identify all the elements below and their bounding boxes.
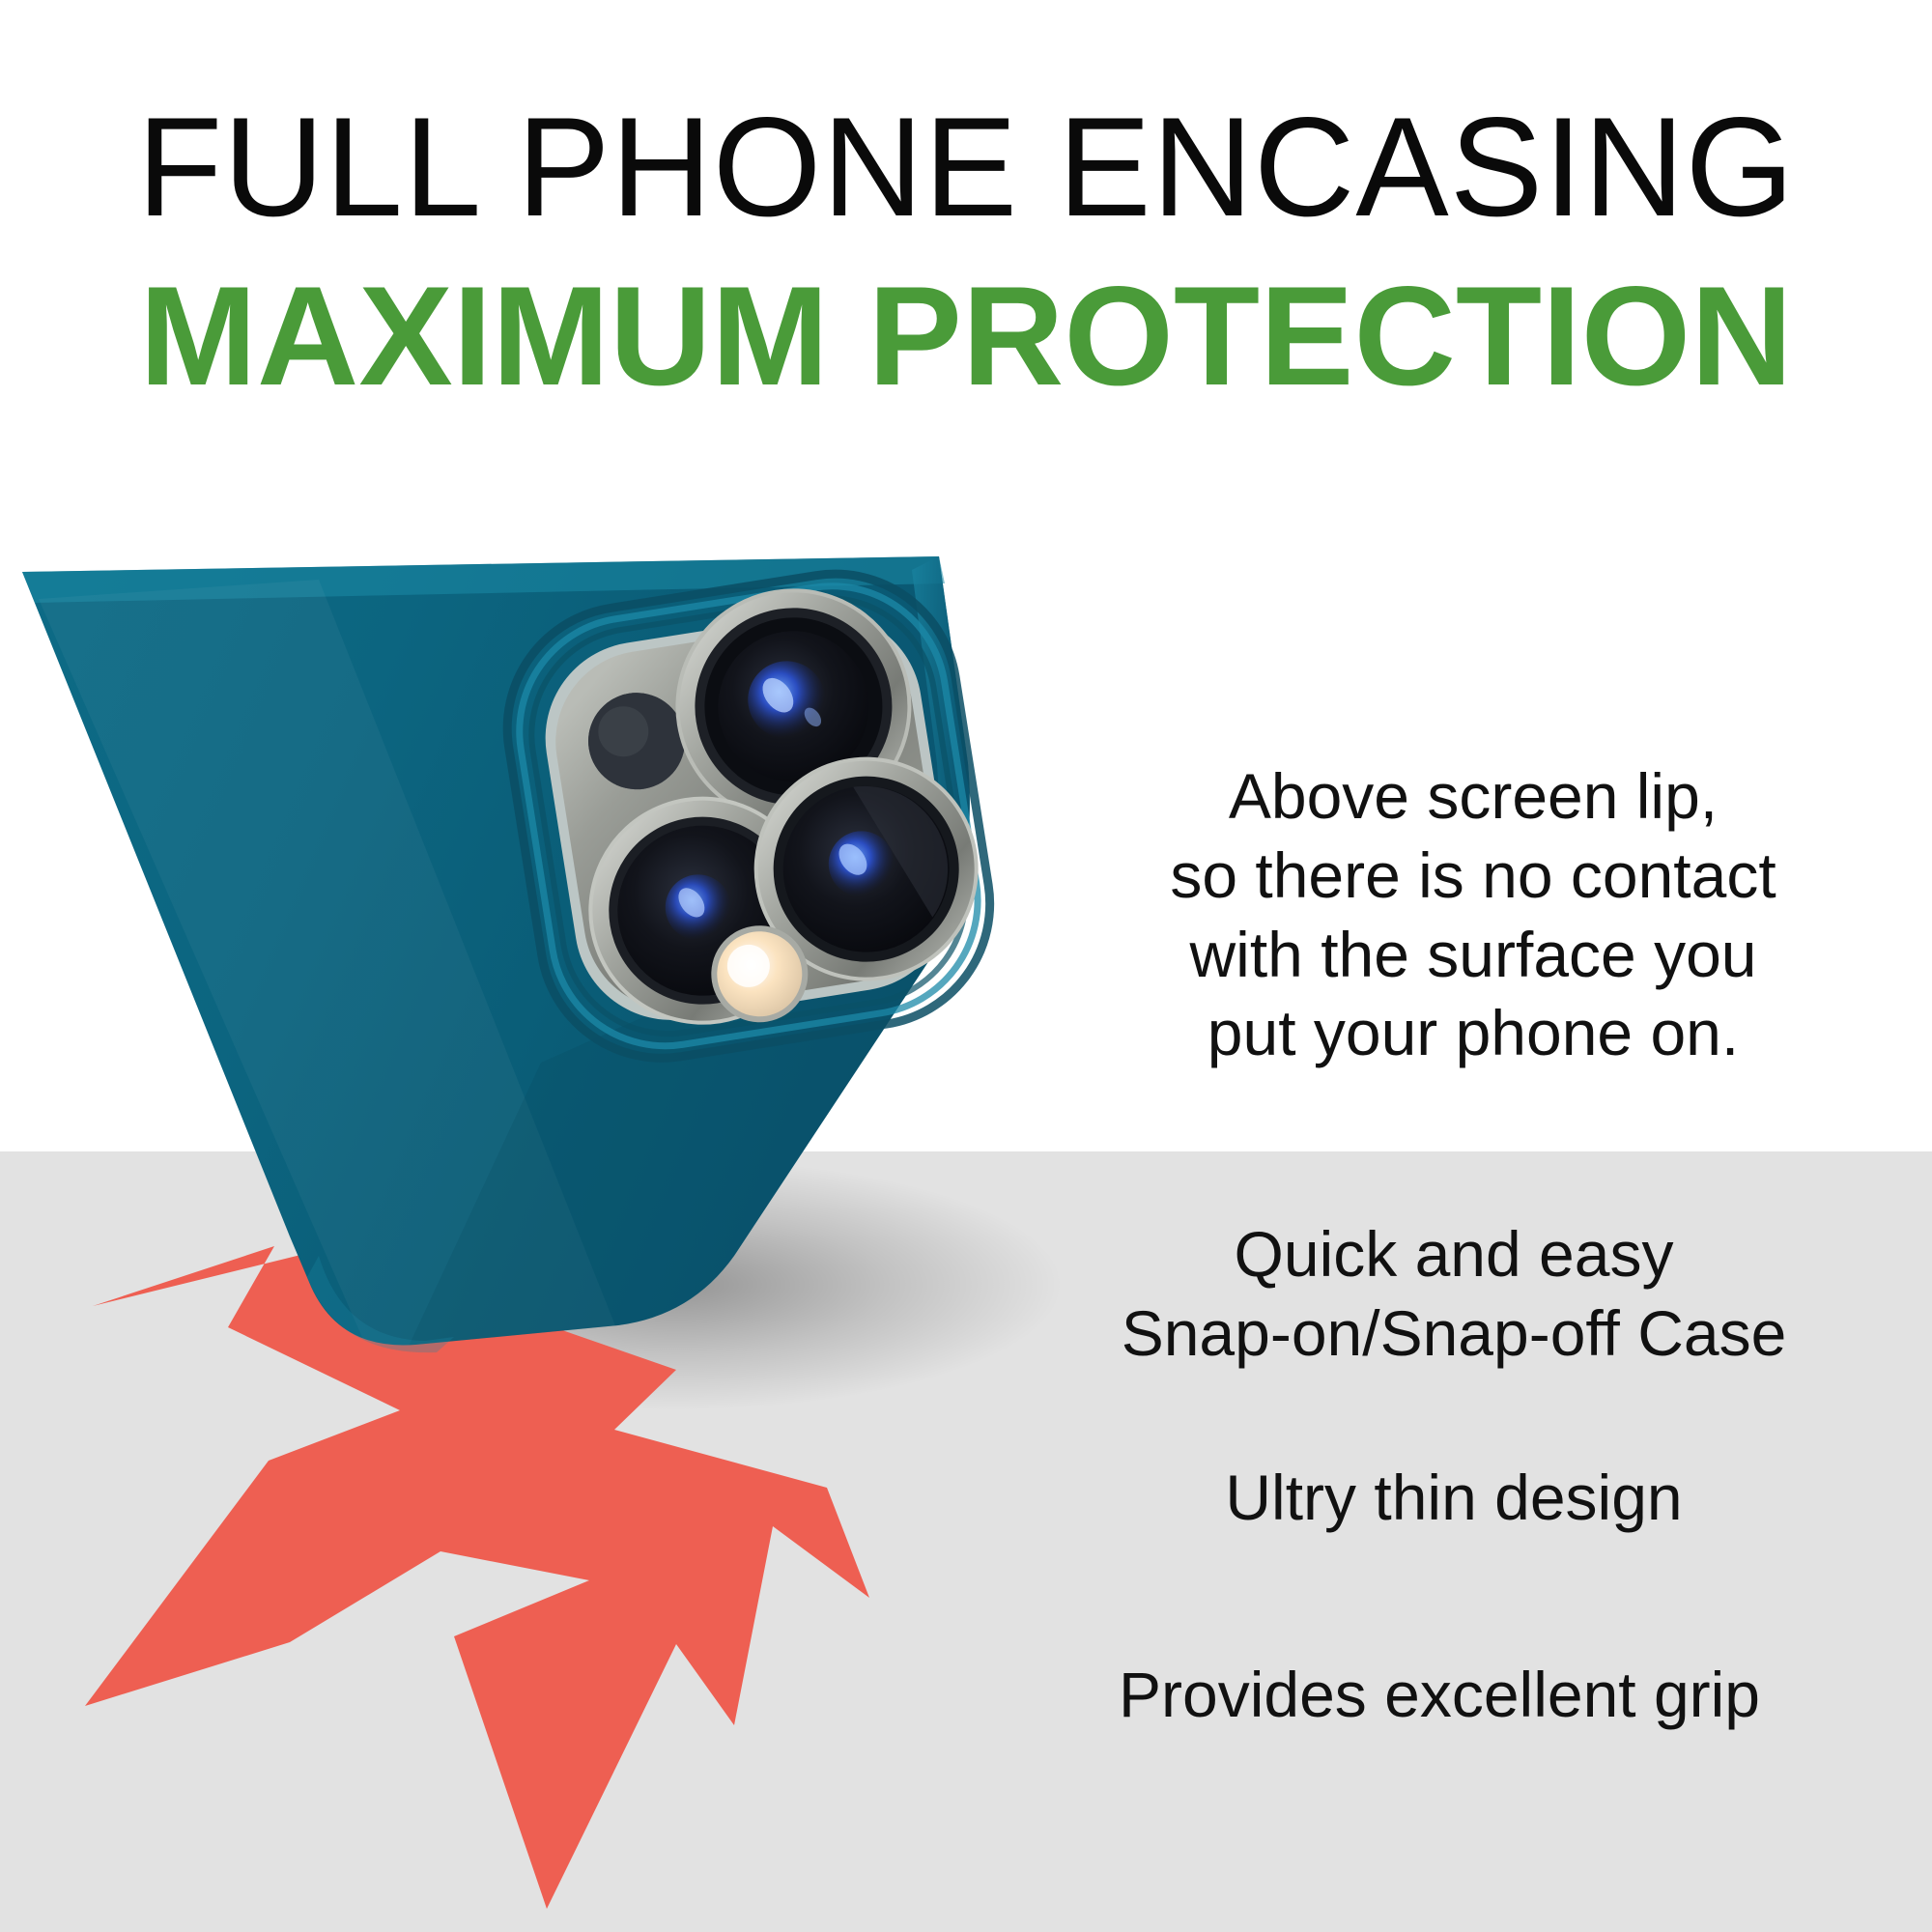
feature-thin-line-1: Ultry thin design	[1043, 1459, 1864, 1538]
feature-snap-line-2: Snap-on/Snap-off Case	[1043, 1294, 1864, 1374]
feature-snap-line-1: Quick and easy	[1043, 1215, 1864, 1294]
marketing-banner: FULL PHONE ENCASING MAXIMUM PROTECTION	[0, 0, 1932, 1932]
headline-primary: FULL PHONE ENCASING	[10, 93, 1922, 241]
feature-text-snap-case: Quick and easy Snap-on/Snap-off Case	[1043, 1215, 1864, 1374]
headline-block: FULL PHONE ENCASING MAXIMUM PROTECTION	[0, 93, 1932, 411]
feature-text-screen-lip: Above screen lip, so there is no contact…	[1082, 757, 1864, 1073]
feature-lip-line-2: so there is no contact	[1082, 837, 1864, 916]
feature-lip-line-1: Above screen lip,	[1082, 757, 1864, 837]
feature-lip-line-4: put your phone on.	[1082, 994, 1864, 1073]
feature-lip-line-3: with the surface you	[1082, 916, 1864, 995]
feature-grip-line-1: Provides excellent grip	[1014, 1656, 1864, 1735]
feature-text-thin-design: Ultry thin design	[1043, 1459, 1864, 1538]
headline-secondary: MAXIMUM PROTECTION	[0, 262, 1932, 410]
feature-text-grip: Provides excellent grip	[1014, 1656, 1864, 1735]
